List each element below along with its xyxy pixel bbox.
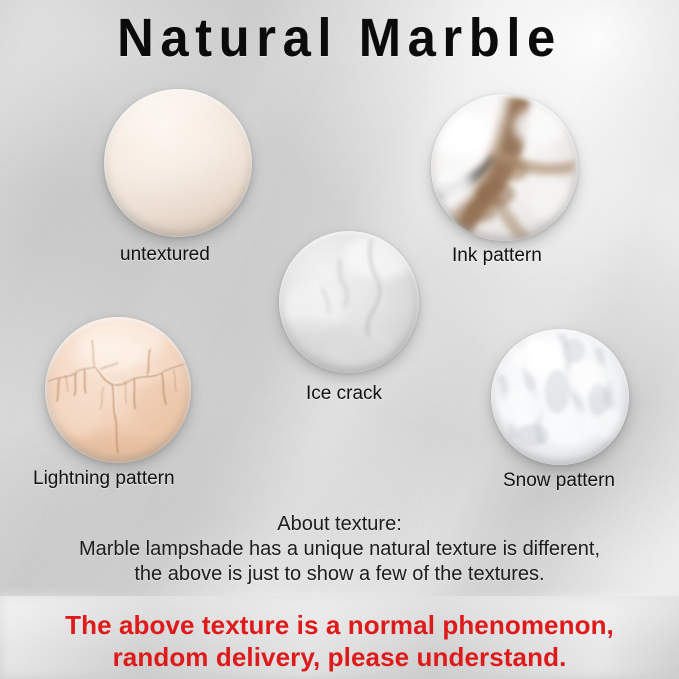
- ice-crack-texture: [279, 231, 419, 373]
- untextured-texture: [104, 89, 252, 237]
- page-title: Natural Marble: [20, 7, 658, 69]
- marble-swatch-circle-ice: [279, 231, 419, 373]
- swatch-label-snow-pattern: Snow pattern: [503, 470, 615, 492]
- swatch-untextured: [104, 89, 252, 237]
- marble-swatch-circle-untextured: [104, 89, 252, 237]
- swatch-ice-crack: [279, 231, 419, 373]
- about-line-2: Marble lampshade has a unique natural te…: [0, 537, 679, 562]
- marble-swatch-circle-ink: [431, 94, 578, 241]
- swatch-label-ink-pattern: Ink pattern: [452, 245, 542, 267]
- warning-line-1: The above texture is a normal phenomenon…: [0, 609, 679, 641]
- swatch-snow-pattern: [491, 329, 629, 465]
- swatch-label-ice-crack: Ice crack: [306, 383, 382, 405]
- swatch-lightning-pattern: [45, 317, 191, 463]
- ink-pattern-texture: [431, 94, 578, 241]
- snow-pattern-texture: [491, 329, 629, 465]
- swatch-label-untextured: untextured: [120, 244, 210, 266]
- lightning-pattern-texture: [45, 317, 191, 463]
- swatch-label-lightning-pattern: Lightning pattern: [33, 468, 175, 490]
- marble-swatch-circle-lightning: [45, 317, 191, 463]
- about-line-1: About texture:: [0, 512, 679, 537]
- warning-message: The above texture is a normal phenomenon…: [0, 609, 679, 673]
- about-texture-block: About texture: Marble lampshade has a un…: [0, 512, 679, 587]
- marble-swatch-circle-snow: [491, 329, 629, 465]
- warning-line-2: random delivery, please understand.: [0, 641, 679, 673]
- swatch-ink-pattern: [431, 94, 578, 241]
- marble-texture-infographic: Natural Marble: [0, 0, 679, 679]
- about-line-3: the above is just to show a few of the t…: [0, 562, 679, 587]
